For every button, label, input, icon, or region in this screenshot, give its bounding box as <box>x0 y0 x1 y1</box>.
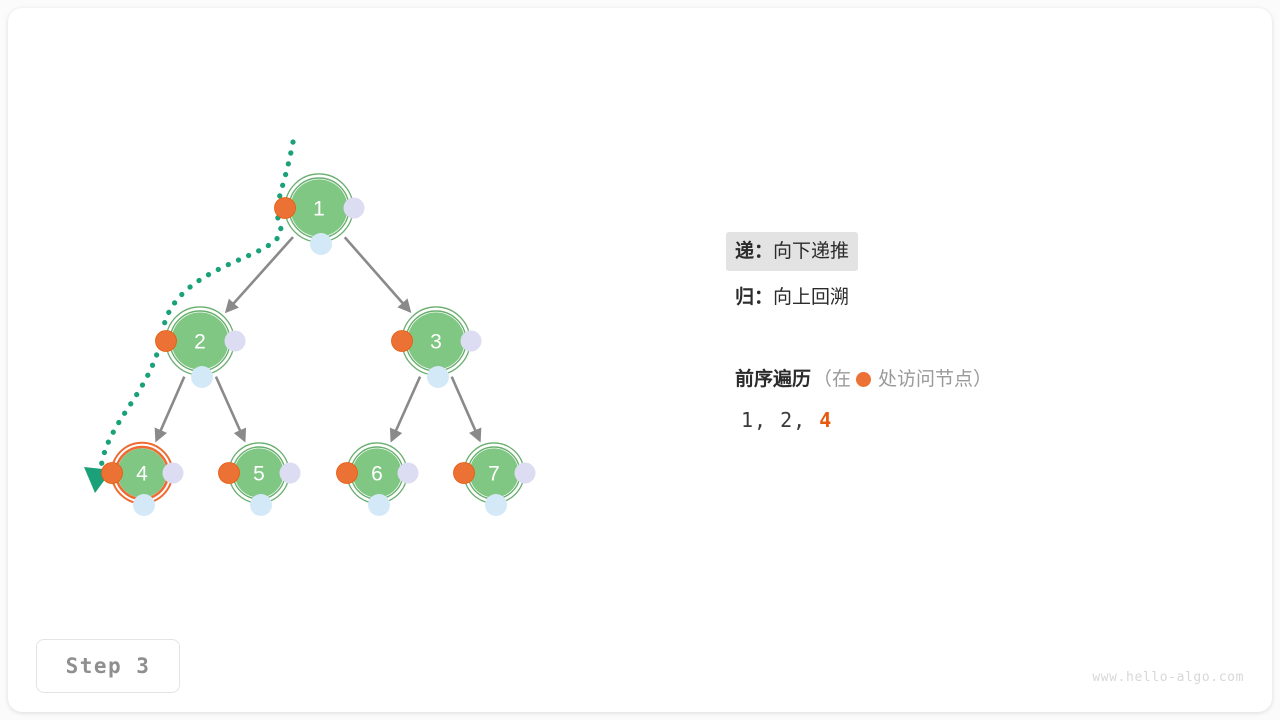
tree-node-6: 6 <box>337 443 419 516</box>
tree-node-2: 2 <box>156 307 246 388</box>
recursion-dotted-path <box>101 142 293 468</box>
node-right-dot <box>515 463 536 484</box>
node-down-dot <box>250 494 272 516</box>
traversal-sequence-prefix: 1, 2, <box>741 408 819 432</box>
node-visit-dot <box>337 463 358 484</box>
node-label: 3 <box>430 331 442 354</box>
legend-row-wrap-0: 递：向下递推 <box>726 232 1146 271</box>
node-down-dot <box>133 494 155 516</box>
node-right-dot <box>461 331 482 352</box>
tree-edge <box>216 377 244 441</box>
tree-edge <box>345 237 410 311</box>
tree-edge <box>227 237 293 311</box>
node-visit-dot <box>156 331 177 352</box>
traversal-panel: 前序遍历（在处访问节点） 1, 2, 4 <box>735 364 1165 432</box>
tree-node-4: 4 <box>102 443 184 516</box>
traversal-sequence-current: 4 <box>819 408 832 432</box>
tree-edge <box>452 377 480 440</box>
binary-tree-graphic: 1234567 <box>0 0 1280 720</box>
traversal-note-prefix: （在 <box>813 368 851 390</box>
node-right-dot <box>225 331 246 352</box>
node-right-dot <box>398 463 419 484</box>
legend-value-recurse: 向下递推 <box>773 240 849 262</box>
node-down-dot <box>485 494 507 516</box>
tree-node-3: 3 <box>392 307 482 388</box>
traversal-note-suffix: 处访问节点） <box>878 368 992 390</box>
node-down-dot <box>191 366 213 388</box>
traversal-sequence: 1, 2, 4 <box>741 408 1165 432</box>
node-visit-dot <box>392 331 413 352</box>
tree-nodes: 1234567 <box>102 174 536 516</box>
node-right-dot <box>344 198 365 219</box>
legend-panel: 递：向下递推 归：向上回溯 <box>726 232 1146 317</box>
node-label: 2 <box>194 331 206 354</box>
legend-row-recurse: 递：向下递推 <box>726 232 858 271</box>
watermark: www.hello-algo.com <box>1092 670 1244 685</box>
node-label: 4 <box>136 463 148 486</box>
legend-row-wrap-1: 归：向上回溯 <box>726 278 1146 317</box>
tree-edge <box>156 377 184 440</box>
tree-edge <box>392 377 420 441</box>
tree-node-7: 7 <box>454 443 536 516</box>
node-visit-dot <box>219 463 240 484</box>
node-visit-dot <box>275 198 296 219</box>
node-visit-dot <box>102 463 123 484</box>
step-badge: Step 3 <box>36 639 180 693</box>
legend-value-backtrack: 向上回溯 <box>773 286 849 308</box>
node-right-dot <box>163 463 184 484</box>
legend-key-backtrack: 归： <box>735 286 773 308</box>
traversal-title-row: 前序遍历（在处访问节点） <box>735 364 1165 391</box>
node-label: 1 <box>313 198 325 221</box>
step-badge-label: Step 3 <box>66 654 151 678</box>
node-label: 5 <box>253 463 265 486</box>
node-down-dot <box>368 494 390 516</box>
node-down-dot <box>427 366 449 388</box>
node-down-dot <box>310 233 332 255</box>
node-visit-dot <box>454 463 475 484</box>
node-label: 7 <box>488 463 500 486</box>
legend-row-backtrack: 归：向上回溯 <box>726 278 858 317</box>
tree-node-5: 5 <box>219 443 301 516</box>
diagram-canvas: 1234567 递：向下递推 归：向上回溯 前序遍历（在处访问节点） 1, 2,… <box>0 0 1280 720</box>
node-right-dot <box>280 463 301 484</box>
node-label: 6 <box>371 463 383 486</box>
traversal-title: 前序遍历 <box>735 368 811 390</box>
orange-circle-icon <box>856 372 871 387</box>
legend-key-recurse: 递： <box>735 240 773 262</box>
